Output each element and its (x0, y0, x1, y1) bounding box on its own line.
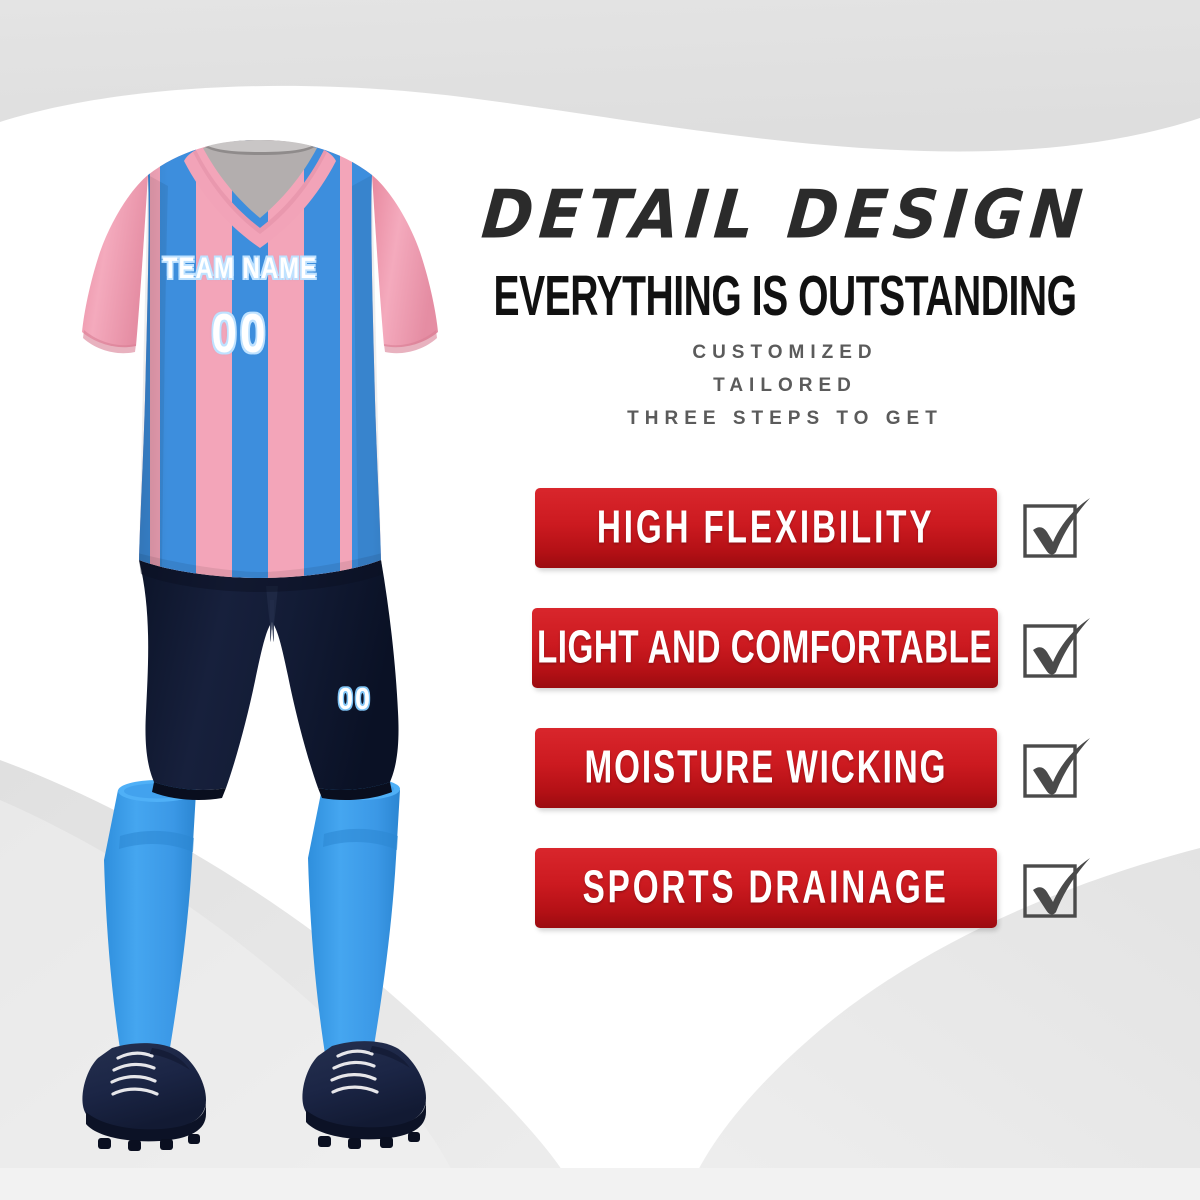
poster-canvas: TEAM NAME 00 00 DETAIL DESIGN EVERYTHING… (0, 0, 1200, 1200)
checkmark-icon (1020, 732, 1092, 804)
socks (104, 778, 400, 1062)
feature-label: LIGHT AND COMFORTABLE (537, 622, 992, 675)
feature-bar-light-and-comfortable: LIGHT AND COMFORTABLE (532, 608, 998, 688)
feature-label: SPORTS DRAINAGE (583, 862, 949, 915)
feature-bar-sports-drainage: SPORTS DRAINAGE (535, 848, 997, 928)
feature-label: MOISTURE WICKING (585, 742, 948, 795)
shorts (139, 560, 399, 800)
feature-row: HIGH FLEXIBILITY (440, 488, 1200, 608)
tagline-three-steps: THREE STEPS TO GET (440, 408, 1130, 430)
jersey-team-name: TEAM NAME (110, 252, 370, 287)
feature-row: LIGHT AND COMFORTABLE (440, 608, 1200, 728)
page-title: DETAIL DESIGN (437, 175, 1134, 254)
feature-row: SPORTS DRAINAGE (440, 848, 1200, 968)
marketing-content: DETAIL DESIGN EVERYTHING IS OUTSTANDING … (440, 0, 1200, 1200)
feature-bar-moisture-wicking: MOISTURE WICKING (535, 728, 997, 808)
page-subtitle: EVERYTHING IS OUTSTANDING (464, 264, 1106, 329)
feature-row: MOISTURE WICKING (440, 728, 1200, 848)
feature-bar-high-flexibility: HIGH FLEXIBILITY (535, 488, 997, 568)
tagline-tailored: TAILORED (440, 375, 1130, 397)
checkmark-icon (1020, 612, 1092, 684)
cleats (82, 1041, 426, 1151)
jersey-number: 00 (110, 301, 370, 365)
feature-list: HIGH FLEXIBILITY LIGHT AND COMFORTABLE (440, 488, 1200, 968)
tagline-customized: CUSTOMIZED (440, 342, 1130, 364)
checkmark-icon (1020, 492, 1092, 564)
checkmark-icon (1020, 852, 1092, 924)
feature-label: HIGH FLEXIBILITY (597, 502, 934, 555)
shorts-number: 00 (320, 682, 390, 717)
